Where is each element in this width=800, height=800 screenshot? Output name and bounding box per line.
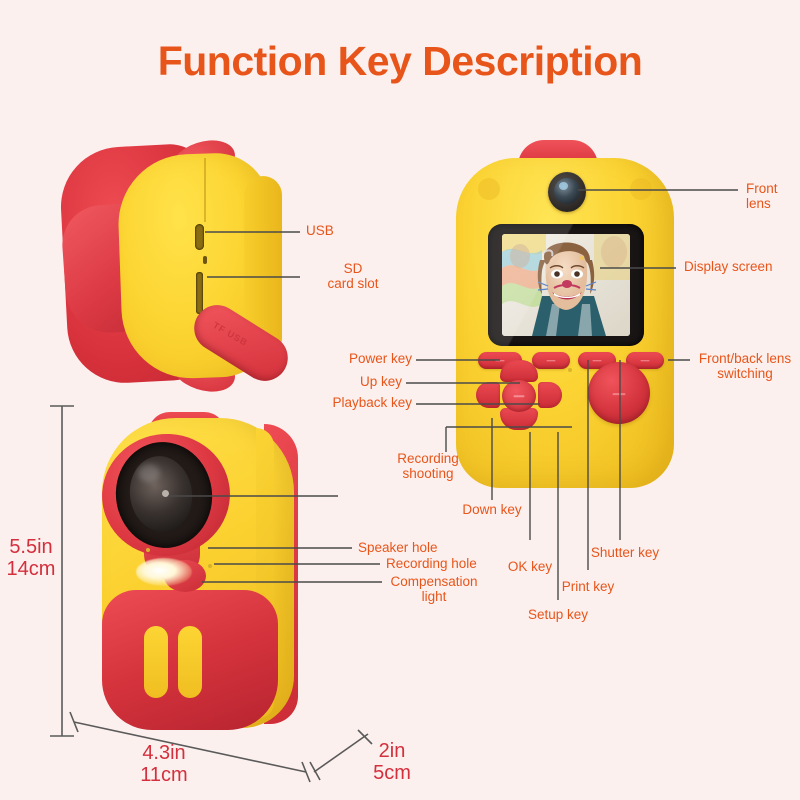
speaker-hole-dot — [146, 548, 150, 552]
callout-playback-key: Playback key — [262, 396, 412, 411]
front-stripe-right — [178, 626, 202, 698]
recording-hole-dot — [208, 564, 212, 568]
callout-speaker-hole: Speaker hole — [358, 541, 438, 556]
usb-port — [195, 224, 204, 250]
dimension-depth: 2in 5cm — [344, 740, 440, 784]
shutter-key-button[interactable] — [588, 362, 650, 424]
dimension-height: 5.5in 14cm — [0, 536, 62, 580]
dim-width-cap-left — [70, 712, 78, 732]
callout-front-back-lens-switching: Front/back lens switching — [690, 352, 800, 381]
screen-photo — [502, 234, 630, 336]
callout-up-key: Up key — [252, 375, 402, 390]
lens-switch-glyph — [641, 360, 650, 362]
back-shoulder-right — [630, 178, 652, 200]
product-back-view — [440, 140, 690, 500]
callout-setup-key: Setup key — [506, 608, 610, 623]
callout-front-lens: Front lens — [746, 182, 800, 211]
ok-key-button[interactable] — [502, 380, 536, 412]
ok-key-glyph — [514, 395, 525, 397]
front-lens-center-dot — [162, 490, 169, 497]
front-lens-specular — [559, 182, 568, 190]
product-front-view — [78, 412, 328, 742]
power-key-glyph — [496, 360, 505, 362]
microphone-dot — [568, 368, 572, 372]
callout-display-screen: Display screen — [684, 260, 773, 275]
dim-depth-cap-left — [310, 762, 320, 780]
callout-power-key: Power key — [262, 352, 412, 367]
callout-print-key: Print key — [536, 580, 640, 595]
indicator-led — [203, 256, 207, 264]
side-body-seam — [204, 158, 206, 222]
callout-shutter-key: Shutter key — [570, 546, 680, 561]
callout-compensation-light: Compensation light — [384, 575, 484, 604]
compensation-light-glow — [136, 558, 192, 586]
up-key-button[interactable] — [500, 360, 538, 382]
playback-key-button[interactable] — [476, 382, 500, 408]
sd-card-slot-port — [196, 272, 203, 314]
front-lens-element — [554, 178, 580, 204]
dimension-width: 4.3in 11cm — [104, 742, 224, 786]
callout-sd-card-slot: SD card slot — [298, 262, 408, 291]
infographic-canvas: Function Key Description TF USB — [0, 0, 800, 800]
back-shoulder-left — [478, 178, 500, 200]
shutter-key-glyph — [613, 393, 626, 395]
dim-width-cap-right — [302, 762, 310, 782]
page-title: Function Key Description — [0, 38, 800, 85]
callout-ok-key: OK key — [478, 560, 582, 575]
port-flap-label: TF USB — [211, 320, 249, 348]
front-lens-highlight — [138, 464, 160, 482]
front-stripe-left — [144, 626, 168, 698]
callout-recording-hole: Recording hole — [386, 557, 477, 572]
print-key-glyph — [593, 360, 602, 362]
callout-usb: USB — [306, 224, 334, 239]
setup-key-glyph — [547, 360, 556, 362]
callout-recording-shooting: Recording shooting — [376, 452, 480, 481]
setup-key-button[interactable] — [532, 352, 570, 369]
callout-down-key: Down key — [440, 503, 544, 518]
display-screen — [502, 234, 630, 336]
